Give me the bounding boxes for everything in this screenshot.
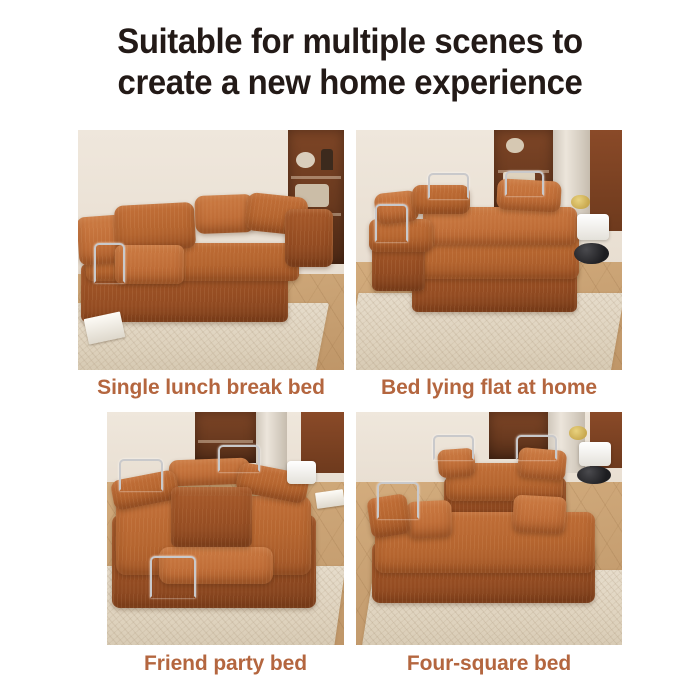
floor-lamp-shade	[579, 442, 611, 465]
metal-rail-left	[377, 482, 418, 519]
bed-metal-rail-right	[505, 171, 544, 197]
decor-plant	[569, 426, 588, 440]
bed-lying-flat-at-home-photo	[356, 130, 622, 370]
side-lamp	[287, 461, 315, 484]
scene-card-single-lunch-break-bed[interactable]: Single lunch break bed	[78, 130, 344, 370]
sofa-right-arm	[285, 209, 333, 267]
bed-metal-rail-left	[375, 204, 408, 242]
scene-caption: Four-square bed	[326, 652, 652, 676]
metal-rail-rear-left	[433, 435, 474, 460]
scene-card-four-square-bed[interactable]: Four-square bed	[356, 412, 622, 645]
sofa-metal-rail	[94, 243, 125, 283]
scene-card-bed-lying-flat[interactable]: Bed lying flat at home	[356, 130, 622, 370]
scene-photo-grid: Single lunch break bed	[0, 0, 700, 700]
four-square-bed-photo	[356, 412, 622, 645]
metal-rail-near	[150, 556, 197, 597]
friend-party-bed-photo	[107, 412, 344, 645]
front-backrest-right	[512, 495, 567, 535]
metal-rail-far	[218, 445, 260, 472]
pit-inner-well	[171, 487, 252, 548]
metal-rail-left	[119, 459, 163, 491]
scene-card-friend-party-bed[interactable]: Friend party bed	[107, 412, 344, 645]
bed-metal-rail-center	[428, 173, 469, 199]
metal-rail-rear-right	[516, 435, 557, 460]
scene-caption: Bed lying flat at home	[326, 376, 652, 400]
floor-lamp-base	[574, 243, 609, 265]
single-lunch-break-bed-photo	[78, 130, 344, 370]
floor-lamp-shade	[577, 214, 609, 240]
sofa-front-cushion	[115, 245, 184, 283]
